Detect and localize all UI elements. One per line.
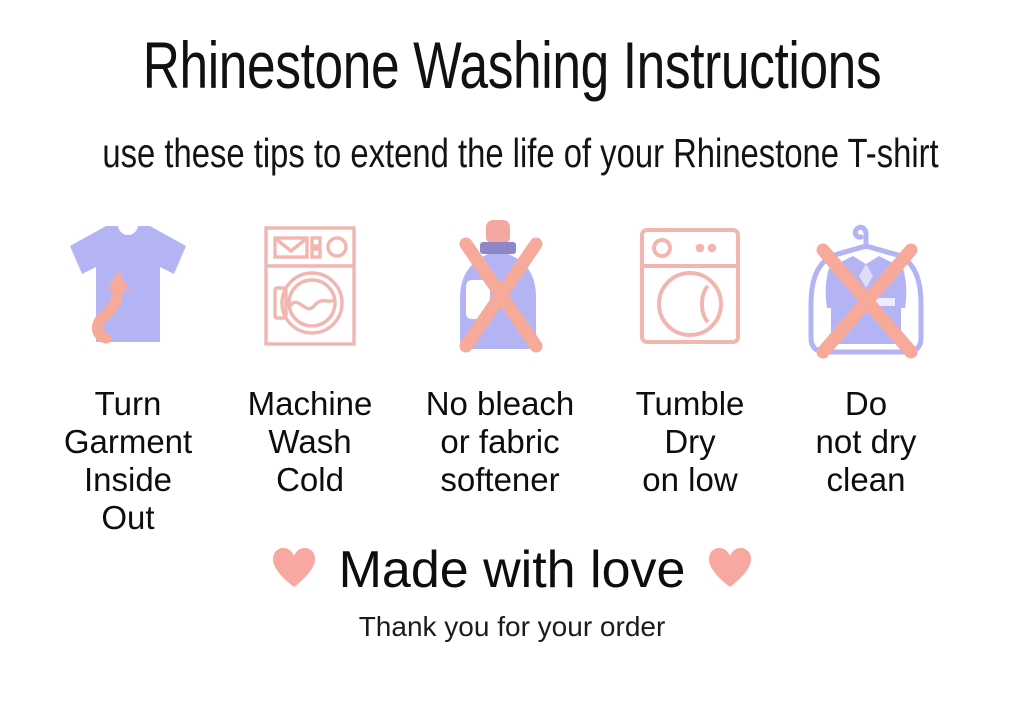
label-line: Tumble [595, 385, 785, 423]
tumble-dryer-icon [638, 226, 742, 346]
label-line: not dry [771, 423, 961, 461]
instruction-label-3: Tumble Dry on low [595, 385, 785, 499]
heart-icon [271, 547, 317, 594]
made-with-love-text: Made with love [339, 540, 686, 600]
label-line: Out [33, 499, 223, 537]
label-line: Do [771, 385, 961, 423]
instruction-label-0: Turn Garment Inside Out [33, 385, 223, 537]
label-line: or fabric [405, 423, 595, 461]
label-line: clean [771, 461, 961, 499]
instruction-icon-4 [781, 206, 951, 366]
page-subtitle: use these tips to extend the life of you… [102, 133, 921, 174]
thank-you-text: Thank you for your order [0, 610, 1024, 644]
instruction-label-row: Turn Garment Inside Out Machine Wash Col… [0, 385, 1024, 545]
instruction-icon-row [0, 206, 1024, 366]
made-with-love-row: Made with love [0, 540, 1024, 600]
tshirt-inside-out-icon [62, 216, 194, 356]
no-bleach-bottle-icon [444, 218, 556, 354]
label-line: Garment [33, 423, 223, 461]
label-line: Inside [33, 461, 223, 499]
label-line: Wash [215, 423, 405, 461]
label-line: Dry [595, 423, 785, 461]
page-title: Rhinestone Washing Instructions [113, 32, 912, 98]
instruction-label-1: Machine Wash Cold [215, 385, 405, 499]
instruction-icon-3 [605, 206, 775, 366]
instruction-icon-0 [43, 206, 213, 366]
instruction-label-4: Do not dry clean [771, 385, 961, 499]
washing-instructions-card: Rhinestone Washing Instructions use thes… [0, 0, 1024, 724]
no-dry-clean-icon [801, 212, 931, 360]
instruction-label-2: No bleach or fabric softener [405, 385, 595, 499]
washing-machine-icon [262, 224, 358, 348]
label-line: Turn [33, 385, 223, 423]
heart-icon [707, 547, 753, 594]
instruction-icon-2 [415, 206, 585, 366]
instruction-icon-1 [225, 206, 395, 366]
label-line: Machine [215, 385, 405, 423]
label-line: softener [405, 461, 595, 499]
label-line: No bleach [405, 385, 595, 423]
label-line: on low [595, 461, 785, 499]
label-line: Cold [215, 461, 405, 499]
